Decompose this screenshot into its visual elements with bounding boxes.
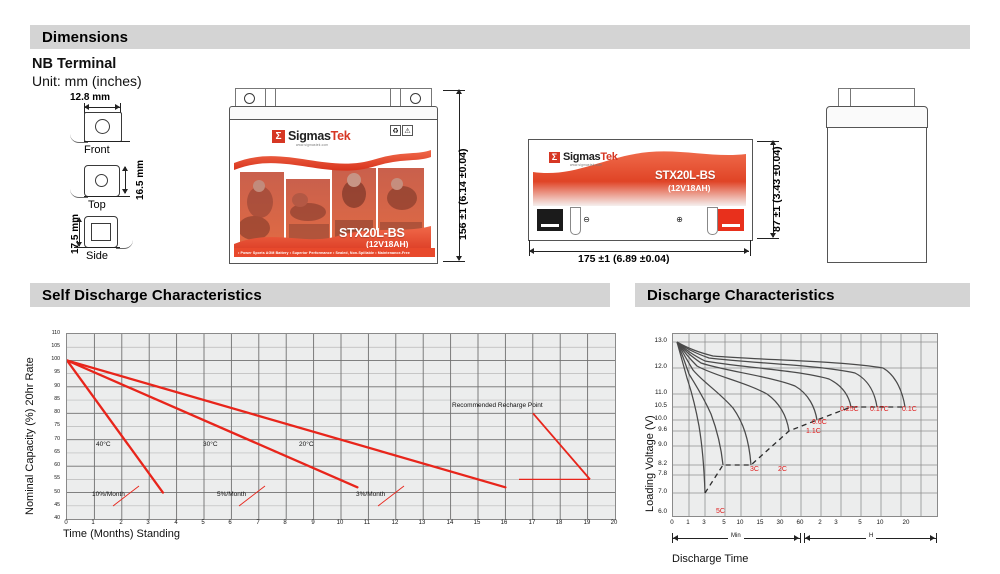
curve-label-0-17c: 0.17C [870,406,889,413]
x-tick: 15 [754,519,766,526]
x-tick: 11 [361,520,373,526]
dim-arrow-right [744,248,749,254]
x-tick: 60 [794,519,806,526]
battery-top-brand: Σ SigmasTek [549,152,618,163]
y-tick: 100 [44,356,60,362]
caution-icon: ⚠ [402,125,413,136]
battery-side-case [827,127,927,263]
battery-vent-right [707,207,718,235]
annotation-40c: 40°C [96,441,111,448]
battery-front-hole-right [410,93,421,104]
battery-side-lid [826,106,928,128]
curve-label-0-25c: 0.25C [840,406,859,413]
terminal-top-baseline [84,196,130,197]
terminal-top-view-label: Top [88,199,106,211]
brand-url: www.sigmastek.com [570,163,602,167]
y-tick: 8.2 [648,460,667,467]
self-discharge-svg [67,334,615,519]
y-tick: 10.5 [645,402,667,409]
x-tick: 20 [608,520,620,526]
curve-label-5c: 5C [716,508,725,515]
battery-front-tagline: • Power Sports AGM Battery • Superior Pe… [234,248,435,257]
x-tick: 14 [444,520,456,526]
self-discharge-plot [66,333,616,520]
battery-negative-terminal [537,209,563,231]
annotation-recharge-point: Recommended Recharge Point [452,402,543,409]
x-tick: 10 [874,519,886,526]
section-title-dimensions: Dimensions [30,29,128,46]
battery-negative-terminal-bar [541,224,559,227]
y-tick: 40 [44,515,60,521]
x-tick: 3 [142,520,154,526]
x-tick: 2 [814,519,826,526]
x-tick: 9 [307,520,319,526]
x-tick: 3 [830,519,842,526]
range-bar-min-end [800,533,801,543]
y-tick: 90 [44,383,60,389]
y-tick: 50 [44,489,60,495]
y-tick: 45 [44,502,60,508]
y-tick: 105 [44,343,60,349]
dim-arrow-right [930,535,935,541]
x-tick: 13 [416,520,428,526]
x-tick: 4 [170,520,182,526]
terminal-top-hole [95,174,108,187]
terminal-front-baseline [84,141,130,142]
terminal-side-view-label: Side [86,250,108,262]
brand-name: SigmasTek [288,130,350,143]
curve-3c [677,342,723,465]
x-tick: 5 [718,519,730,526]
y-tick: 12.0 [645,363,667,370]
x-tick: 2 [115,520,127,526]
dim-tick [757,141,779,142]
section-title-discharge: Discharge Characteristics [635,287,835,304]
annotation-rate-10: 10%/Month [92,491,125,498]
x-tick: 1 [682,519,694,526]
discharge-svg [673,334,937,516]
battery-front-hole-left [244,93,255,104]
battery-top-model: STX20L-BS [655,170,715,182]
discharge-plot [672,333,938,517]
x-tick: 20 [900,519,912,526]
battery-vent-left [570,207,581,235]
range-label-min: Min [728,533,744,539]
curve-5c [677,342,705,493]
battery-front-model: STX20L-BS [339,226,405,240]
y-tick: 7.0 [648,488,667,495]
battery-top-capacity: (12V18AH) [668,183,711,193]
x-tick: 5 [197,520,209,526]
x-tick: 30 [774,519,786,526]
curve-label-0-6c: 0.6C [812,419,827,426]
self-discharge-x-axis-label: Time (Months) Standing [63,528,180,540]
annotation-20c: 20°C [299,441,314,448]
terminal-width-label: 12.8 mm [70,92,110,103]
dim-ext-right [750,240,751,256]
battery-height-label: 156 ±1 (6.14 ±0.04) [457,148,469,240]
y-tick: 13.0 [645,337,667,344]
dim-tick [443,261,465,262]
discharge-x-axis-label: Discharge Time [672,553,748,565]
x-tick: 10 [334,520,346,526]
self-discharge-y-axis-label: Nominal Capacity (%) 20hr Rate [24,357,36,515]
y-tick: 110 [44,330,60,336]
annotation-rate-3: 3%/Month [356,491,385,498]
y-tick: 11.0 [645,389,667,396]
x-tick: 6 [224,520,236,526]
x-tick: 3 [698,519,710,526]
annotation-30c: 30°C [203,441,218,448]
y-tick: 65 [44,449,60,455]
unit-note: Unit: mm (inches) [32,73,142,89]
battery-length-dimline [530,251,749,252]
y-tick: 85 [44,396,60,402]
section-header-dimensions: Dimensions [30,25,970,49]
dim-arrow-left [673,535,678,541]
y-tick: 7.8 [648,470,667,477]
dim-arrow-down [122,189,128,194]
dim-ext-left [529,240,530,256]
x-tick: 10 [734,519,746,526]
curve-0-17c [677,342,877,407]
y-tick: 70 [44,436,60,442]
x-tick: 0 [60,520,72,526]
annotation-rate-5: 5%/Month [217,491,246,498]
y-tick: 60 [44,462,60,468]
section-header-self-discharge: Self Discharge Characteristics [30,283,610,307]
terminal-front-view-label: Front [84,144,110,156]
brand-name-second: Tek [600,151,617,163]
y-tick: 10.0 [645,415,667,422]
x-tick: 7 [252,520,264,526]
brand-url: www.sigmastek.com [296,143,328,147]
terminal-depth-label: 16.5 mm [135,160,146,200]
section-header-discharge: Discharge Characteristics [635,283,970,307]
battery-side-cap-top [850,88,915,108]
section-title-self-discharge: Self Discharge Characteristics [30,287,262,304]
positive-polarity-icon: ⊕ [674,214,685,225]
y-tick: 80 [44,409,60,415]
terminal-front-hole [95,119,110,134]
curve-label-3c: 3C [750,466,759,473]
curve-0-1c [677,342,905,407]
y-tick: 95 [44,369,60,375]
curve-label-2c: 2C [778,466,787,473]
dim-arrow-left [805,535,810,541]
dim-tick [757,238,779,239]
dim-arrow-up [122,166,128,171]
y-tick: 75 [44,422,60,428]
range-label-hour: H [866,533,876,539]
recycle-icon: ♻ [390,125,401,136]
brand-name-first: Sigmas [563,151,600,163]
y-tick: 9.0 [648,441,667,448]
curve-label-1-1c: 1.1C [806,428,821,435]
brand-name: SigmasTek [563,152,618,163]
x-tick: 12 [389,520,401,526]
battery-front-cap-mid2 [275,88,392,108]
sigma-logo-icon: Σ [272,130,285,143]
battery-positive-terminal [718,209,744,231]
battery-width-label: 87 ±1 (3.43 ±0.04) [771,146,783,232]
x-tick: 18 [553,520,565,526]
curve-label-0-1c: 0.1C [902,406,917,413]
battery-length-label: 175 ±1 (6.89 ±0.04) [578,253,670,265]
nb-terminal-title: NB Terminal [32,56,116,72]
battery-positive-terminal-bar [722,224,740,227]
x-tick: 1 [87,520,99,526]
brand-name-second: Tek [331,129,351,143]
terminal-height-label: 17.5 mm [70,214,81,254]
x-tick: 19 [581,520,593,526]
battery-front-brand: Σ SigmasTek [272,130,350,143]
brand-name-first: Sigmas [288,129,331,143]
dim-arrow-right [794,535,799,541]
y-tick: 9.6 [648,426,667,433]
y-tick: 6.0 [648,508,667,515]
x-tick: 8 [279,520,291,526]
terminal-side-inner [91,223,111,241]
recharge-leader [533,413,590,479]
sigma-logo-icon: Σ [549,152,560,163]
y-tick: 55 [44,475,60,481]
negative-polarity-icon: ⊖ [581,214,592,225]
x-tick: 5 [854,519,866,526]
x-tick: 17 [526,520,538,526]
dim-tick [443,90,465,91]
x-tick: 0 [666,519,678,526]
range-bar-hour-end [936,533,937,543]
x-tick: 16 [498,520,510,526]
x-tick: 15 [471,520,483,526]
